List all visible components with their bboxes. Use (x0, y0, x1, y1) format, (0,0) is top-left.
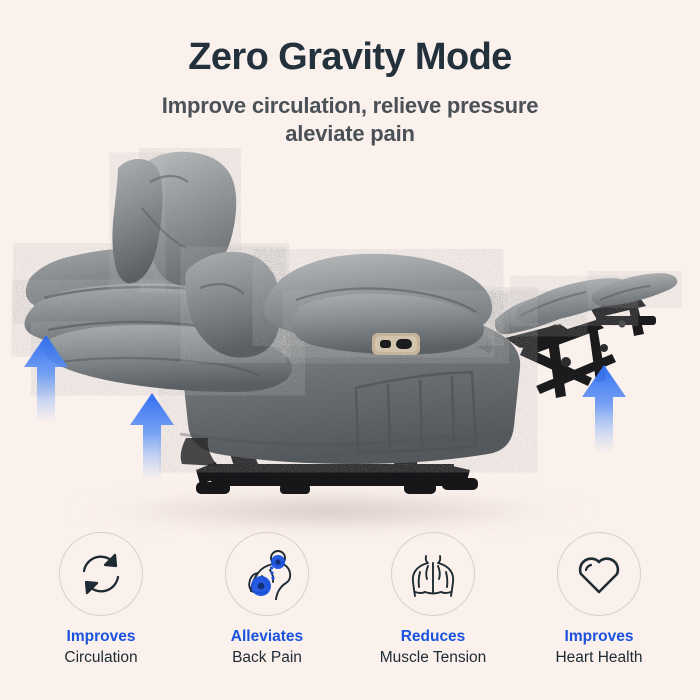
infographic-page: Zero Gravity Mode Improve circulation, r… (0, 0, 700, 700)
benefit-reduces-muscle-tension: Reduces Muscle Tension (358, 532, 508, 668)
benefit-improves-heart-health: Improves Heart Health (524, 532, 674, 668)
header: Zero Gravity Mode Improve circulation, r… (0, 0, 700, 148)
benefit-improves-circulation: Improves Circulation (26, 532, 176, 668)
benefit-icon-circle (391, 532, 475, 616)
benefit-alleviates-back-pain: Alleviates Back Pain (192, 532, 342, 668)
benefit-sublabel: Heart Health (555, 648, 642, 667)
page-subtitle: Improve circulation, relieve pressure al… (0, 78, 700, 148)
back-muscles-icon (407, 548, 459, 600)
benefit-sublabel: Circulation (64, 648, 137, 667)
benefit-icon-circle (225, 532, 309, 616)
benefits-row: Improves Circulation (0, 532, 700, 692)
benefit-label: Reduces (401, 627, 466, 646)
benefit-icon-circle (557, 532, 641, 616)
benefit-sublabel: Back Pain (232, 648, 302, 667)
heart-icon (574, 550, 624, 598)
subtitle-line-2: aleviate pain (285, 121, 414, 146)
control-panel-button (372, 333, 420, 355)
circulation-arrows-icon (76, 549, 126, 599)
lift-arrow-footrest (580, 363, 628, 453)
benefit-label: Improves (67, 627, 136, 646)
lift-arrow-backrest (22, 333, 70, 423)
back-pain-person-icon (240, 548, 294, 600)
page-title: Zero Gravity Mode (0, 0, 700, 78)
benefit-label: Improves (565, 627, 634, 646)
benefit-sublabel: Muscle Tension (380, 648, 487, 667)
product-image-recliner (0, 148, 700, 540)
lift-arrow-seat (128, 391, 176, 481)
subtitle-line-1: Improve circulation, relieve pressure (162, 93, 539, 118)
floor-shadow (62, 488, 598, 534)
benefit-label: Alleviates (231, 627, 303, 646)
benefit-icon-circle (59, 532, 143, 616)
